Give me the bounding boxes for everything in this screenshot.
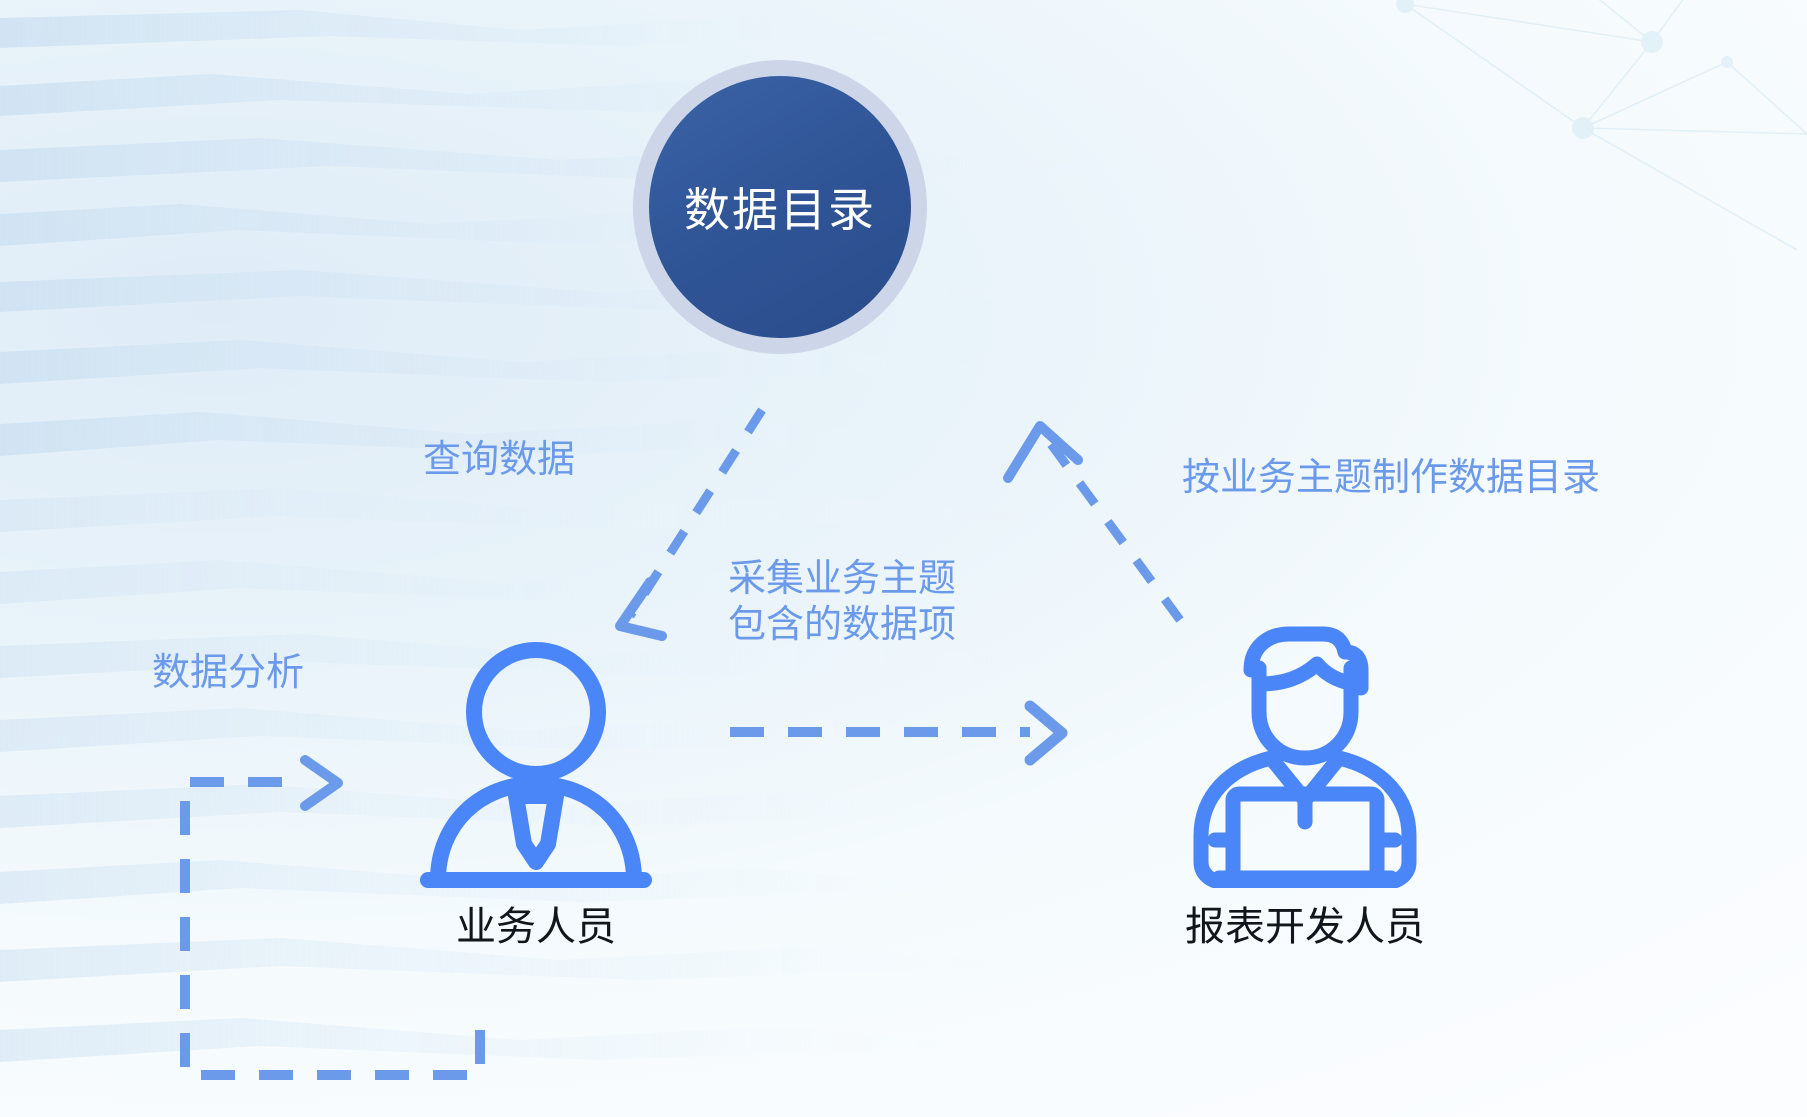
business-person-icon [416,638,656,888]
actor-business-person-label: 业务人员 [456,894,616,952]
developer-with-laptop-icon [1171,608,1439,888]
actor-report-developer-label: 报表开发人员 [1185,894,1425,952]
edge-label-build-catalog: 按业务主题制作数据目录 [1182,455,1600,501]
data-catalog-hub-label: 数据目录 [684,174,876,240]
actor-report-developer[interactable]: 报表开发人员 [1140,608,1470,952]
edge-collect-data-items [730,706,1062,760]
actor-business-person[interactable]: 业务人员 [386,638,686,952]
edge-label-data-analysis: 数据分析 [152,650,304,696]
edge-build-catalog [1008,426,1180,620]
data-catalog-hub-core: 数据目录 [649,76,911,338]
data-catalog-hub[interactable]: 数据目录 [633,60,927,354]
diagram-canvas: 数据目录 查询数据 采集业务主题 包含的数据项 按业务主题制作数据目录 数据分析… [0,0,1807,1117]
edge-label-collect-data-items: 采集业务主题 包含的数据项 [728,556,956,649]
edge-label-query-data: 查询数据 [423,437,575,483]
